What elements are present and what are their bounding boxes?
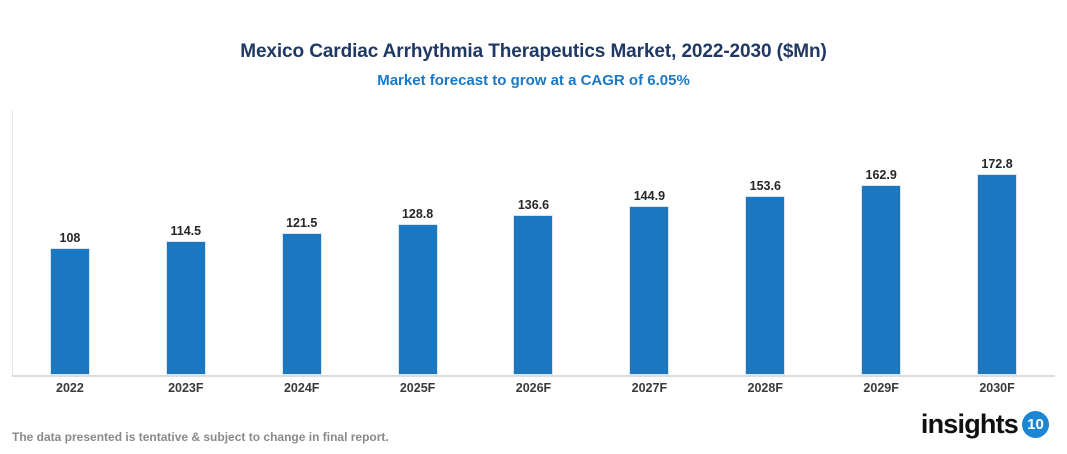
bar-slot: 153.6: [707, 109, 823, 375]
bar[interactable]: [629, 206, 669, 375]
bar[interactable]: [977, 174, 1017, 375]
chart-title: Mexico Cardiac Arrhythmia Therapeutics M…: [0, 40, 1067, 64]
bar-value-label: 108: [60, 231, 81, 245]
bar[interactable]: [166, 241, 206, 375]
bar-slot: 144.9: [591, 109, 707, 375]
bar[interactable]: [50, 248, 90, 375]
x-axis-line: [12, 375, 1055, 377]
title-block: Mexico Cardiac Arrhythmia Therapeutics M…: [0, 40, 1067, 91]
x-axis-tick-label: 2030F: [939, 381, 1055, 395]
bar-slot: 128.8: [360, 109, 476, 375]
bar[interactable]: [513, 215, 553, 375]
bar-value-label: 153.6: [750, 179, 781, 193]
chart-page: Mexico Cardiac Arrhythmia Therapeutics M…: [0, 0, 1067, 454]
insights10-logo: insights 10: [921, 409, 1049, 439]
bar-value-label: 114.5: [171, 224, 202, 238]
x-axis-tick-label: 2024F: [244, 381, 360, 395]
bar-value-label: 128.8: [402, 207, 433, 221]
logo-badge-icon: 10: [1022, 411, 1049, 438]
bar-slot: 114.5: [128, 109, 244, 375]
x-axis-tick-label: 2029F: [823, 381, 939, 395]
bar-slot: 162.9: [823, 109, 939, 375]
x-axis-tick-label: 2026F: [476, 381, 592, 395]
bar-slot: 121.5: [244, 109, 360, 375]
bar[interactable]: [282, 233, 322, 375]
bar[interactable]: [861, 185, 901, 375]
x-axis-tick-label: 2023F: [128, 381, 244, 395]
chart-subtitle: Market forecast to grow at a CAGR of 6.0…: [0, 71, 1067, 91]
x-axis-tick-label: 2027F: [591, 381, 707, 395]
logo-wordmark: insights: [921, 409, 1018, 439]
bar-value-label: 136.6: [518, 198, 549, 212]
disclaimer-text: The data presented is tentative & subjec…: [12, 430, 389, 444]
bar-value-label: 162.9: [866, 168, 897, 182]
bar[interactable]: [398, 224, 438, 375]
bar-slot: 108: [12, 109, 128, 375]
bar-value-label: 121.5: [286, 216, 317, 230]
x-axis-tick-label: 2022: [12, 381, 128, 395]
bar-value-label: 144.9: [634, 189, 665, 203]
bar[interactable]: [745, 196, 785, 375]
x-axis-tick-label: 2025F: [360, 381, 476, 395]
bar-value-label: 172.8: [981, 157, 1012, 171]
bar-slot: 136.6: [476, 109, 592, 375]
bar-slot: 172.8: [939, 109, 1055, 375]
x-axis-tick-label: 2028F: [707, 381, 823, 395]
